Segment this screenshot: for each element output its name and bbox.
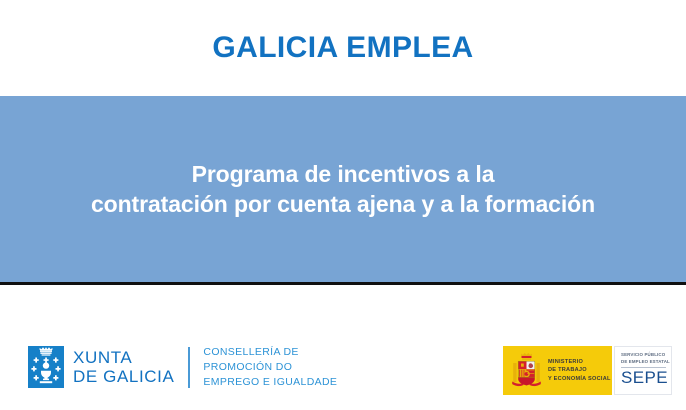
ministerio-de-trabajo-logo: MINISTERIO DE TRABAJO Y ECONOMÍA SOCIAL (503, 346, 612, 395)
conselleria-line-2: PROMOCIÓN DO (203, 360, 337, 375)
program-banner: Programa de incentivos a la contratación… (0, 96, 686, 282)
ministerio-line-1: MINISTERIO (548, 358, 611, 366)
ministerio-text: MINISTERIO DE TRABAJO Y ECONOMÍA SOCIAL (548, 358, 611, 383)
conselleria-line-1: CONSELLERÍA DE (203, 345, 337, 360)
ministerio-line-3: Y ECONOMÍA SOCIAL (548, 375, 611, 383)
sepe-full-name: SERVICIO PÚBLICO DE EMPLEO ESTATAL (621, 352, 666, 365)
banner-heading-line-1: Programa de incentivos a la (13, 159, 673, 189)
galicia-coat-of-arms-emblem-icon (28, 346, 64, 388)
sepe-name-line-1: SERVICIO PÚBLICO (621, 352, 666, 359)
page-title: GALICIA EMPLEA (212, 33, 473, 63)
xunta-wordmark: XUNTA DE GALICIA (73, 348, 174, 387)
conselleria-name: CONSELLERÍA DE PROMOCIÓN DO EMPREGO E IG… (203, 345, 337, 390)
ministerio-line-2: DE TRABAJO (548, 366, 611, 374)
xunta-wordmark-line-2: DE GALICIA (73, 367, 174, 387)
xunta-wordmark-line-1: XUNTA (73, 348, 174, 368)
sepe-acronym: SEPE (621, 369, 666, 386)
spain-coat-of-arms-icon (510, 351, 543, 391)
banner-heading: Programa de incentivos a la contratación… (13, 159, 673, 220)
xunta-de-galicia-logo: XUNTA DE GALICIA CONSELLERÍA DE PROMOCIÓ… (28, 345, 337, 390)
sepe-name-line-2: DE EMPLEO ESTATAL (621, 359, 666, 366)
sepe-logo: SERVICIO PÚBLICO DE EMPLEO ESTATAL SEPE (614, 346, 672, 395)
title-area: GALICIA EMPLEA (0, 0, 686, 96)
footer-logos: XUNTA DE GALICIA CONSELLERÍA DE PROMOCIÓ… (0, 285, 686, 410)
conselleria-line-3: EMPREGO E IGUALDADE (203, 375, 337, 390)
banner-heading-line-2: contratación por cuenta ajena y a la for… (13, 189, 673, 219)
logo-divider (188, 347, 190, 388)
